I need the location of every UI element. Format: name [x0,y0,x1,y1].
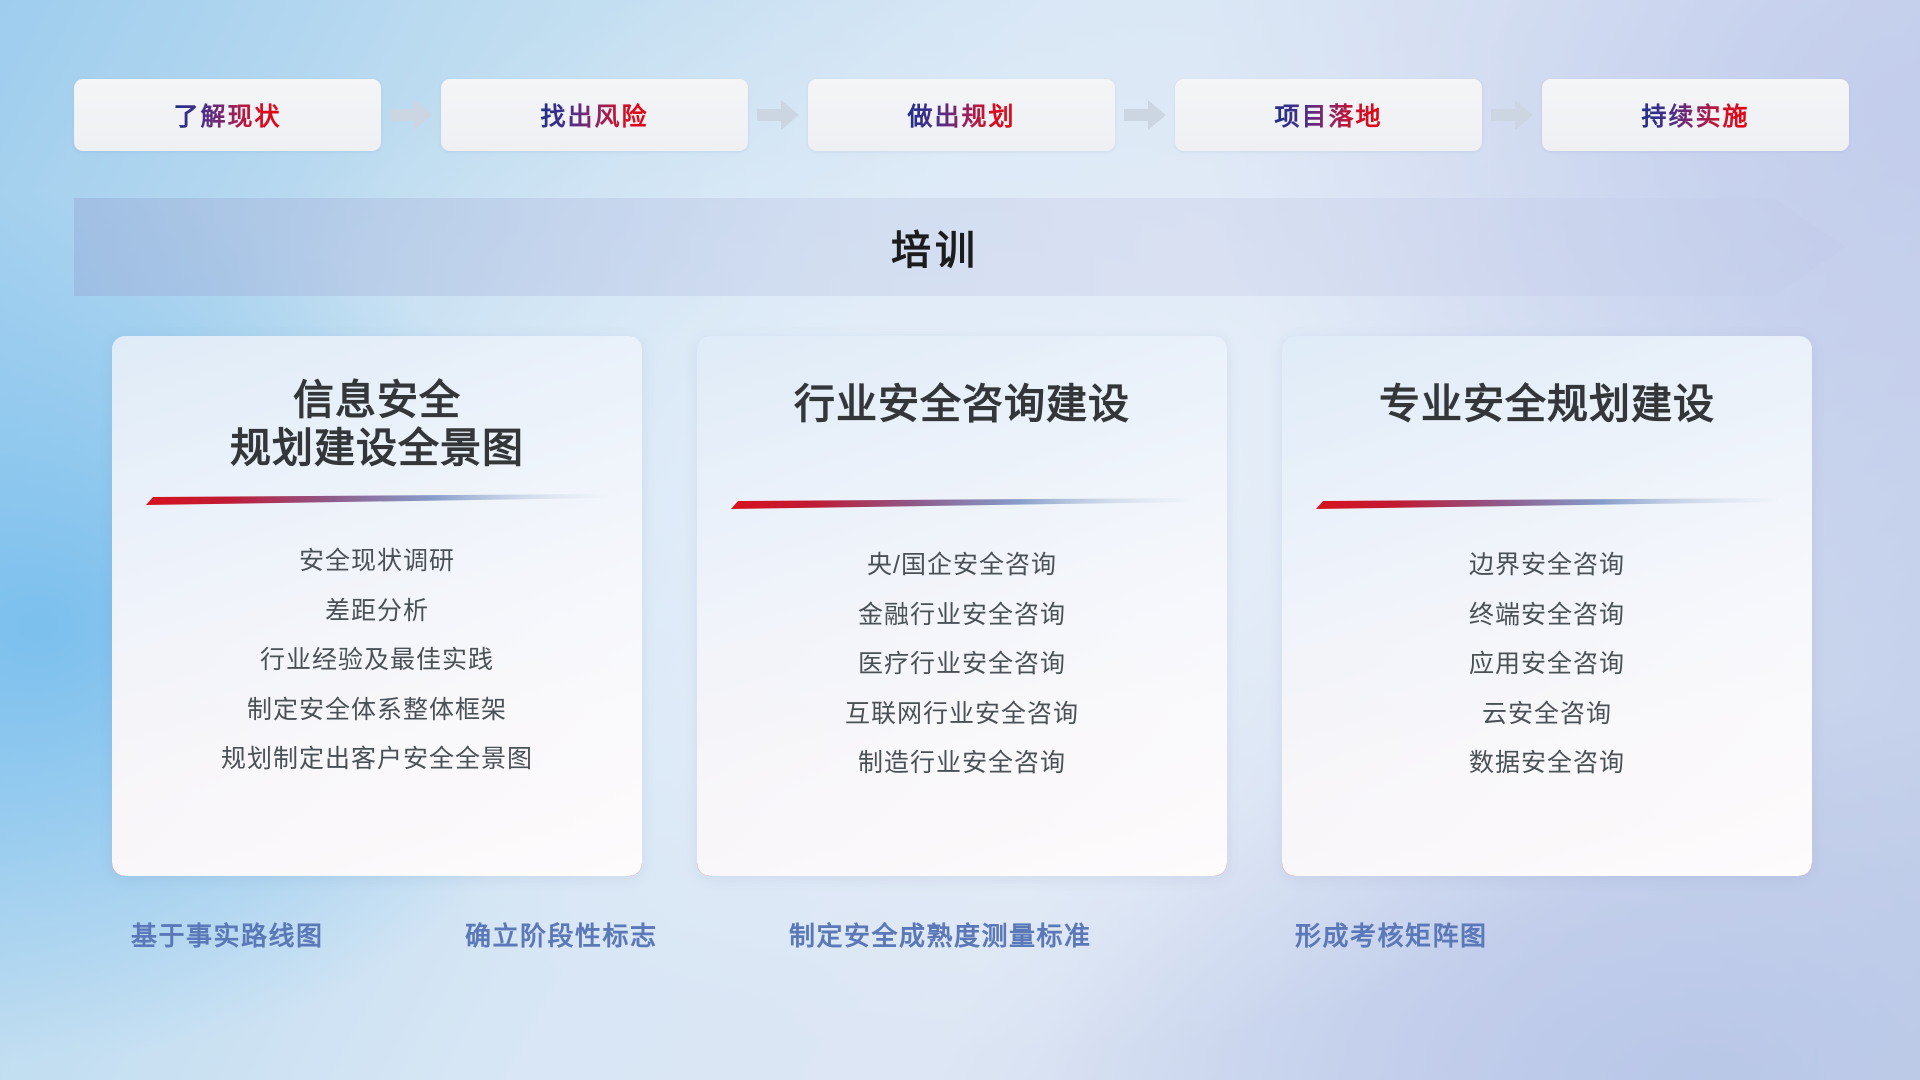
list-item: 行业经验及最佳实践 [260,640,494,681]
step-label-4: 项目落地 [1274,97,1382,133]
card-list: 边界安全咨询 终端安全咨询 应用安全咨询 云安全咨询 数据安全咨询 [1316,545,1778,784]
list-item: 医疗行业安全咨询 [858,644,1066,685]
list-item: 云安全咨询 [1482,694,1612,735]
list-item: 央/国企安全咨询 [867,545,1057,586]
slide-canvas: 了解现状 找出风险 做出规划 项目落地 持续实施 培训 [0,0,1920,1080]
card-information-security-panorama[interactable]: 信息安全 规划建设全景图 [112,336,642,876]
card-professional-security-planning[interactable]: 专业安全规划建设 [1282,336,1812,876]
banner-title: 培训 [74,198,1846,296]
list-item: 制定安全体系整体框架 [247,690,507,731]
gradient-wedge-divider-icon [731,498,1193,511]
card-title: 行业安全咨询建设 [731,380,1193,484]
step-label-3: 做出规划 [907,97,1015,133]
step-label-5: 持续实施 [1641,97,1749,133]
list-item: 金融行业安全咨询 [858,595,1066,636]
step-arrow-icon-3 [1115,79,1175,151]
footer-label-2: 确立阶段性标志 [465,916,658,953]
process-step-row: 了解现状 找出风险 做出规划 项目落地 持续实施 [74,79,1846,151]
list-item: 规划制定出客户安全全景图 [221,739,533,780]
card-industry-security-consulting[interactable]: 行业安全咨询建设 [697,336,1227,876]
list-item: 制造行业安全咨询 [858,743,1066,784]
footer-label-row: 基于事实路线图 确立阶段性标志 制定安全成熟度测量标准 形成考核矩阵图 [0,916,1920,962]
card-title: 专业安全规划建设 [1316,380,1778,484]
footer-label-3: 制定安全成熟度测量标准 [789,916,1092,953]
list-item: 安全现状调研 [299,541,455,582]
card-title: 信息安全 规划建设全景图 [146,376,608,480]
list-item: 差距分析 [325,591,429,632]
footer-label-1: 基于事实路线图 [131,916,324,953]
card-title-line: 信息安全 [146,376,608,424]
list-item: 终端安全咨询 [1469,595,1625,636]
step-label-2: 找出风险 [540,97,648,133]
step-box-1[interactable]: 了解现状 [74,79,381,151]
card-inner: 行业安全咨询建设 [697,336,1227,876]
card-list: 安全现状调研 差距分析 行业经验及最佳实践 制定安全体系整体框架 规划制定出客户… [146,541,608,780]
step-label-1: 了解现状 [173,97,281,133]
card-title-line: 规划建设全景图 [146,424,608,472]
list-item: 边界安全咨询 [1469,545,1625,586]
gradient-wedge-divider-icon [1316,498,1778,511]
list-item: 互联网行业安全咨询 [845,694,1079,735]
gradient-wedge-divider-icon [146,494,608,507]
card-inner: 专业安全规划建设 [1282,336,1812,876]
step-box-2[interactable]: 找出风险 [441,79,748,151]
card-list: 央/国企安全咨询 金融行业安全咨询 医疗行业安全咨询 互联网行业安全咨询 制造行… [731,545,1193,784]
card-row: 信息安全 规划建设全景图 [112,336,1812,876]
training-banner: 培训 [74,198,1846,296]
step-arrow-icon-2 [748,79,808,151]
card-title-line: 专业安全规划建设 [1316,380,1778,428]
step-box-3[interactable]: 做出规划 [808,79,1115,151]
card-inner: 信息安全 规划建设全景图 [112,336,642,876]
list-item: 数据安全咨询 [1469,743,1625,784]
step-box-5[interactable]: 持续实施 [1542,79,1849,151]
card-title-line: 行业安全咨询建设 [731,380,1193,428]
step-arrow-icon-1 [381,79,441,151]
footer-label-4: 形成考核矩阵图 [1295,916,1488,953]
step-box-4[interactable]: 项目落地 [1175,79,1482,151]
step-arrow-icon-4 [1482,79,1542,151]
list-item: 应用安全咨询 [1469,644,1625,685]
